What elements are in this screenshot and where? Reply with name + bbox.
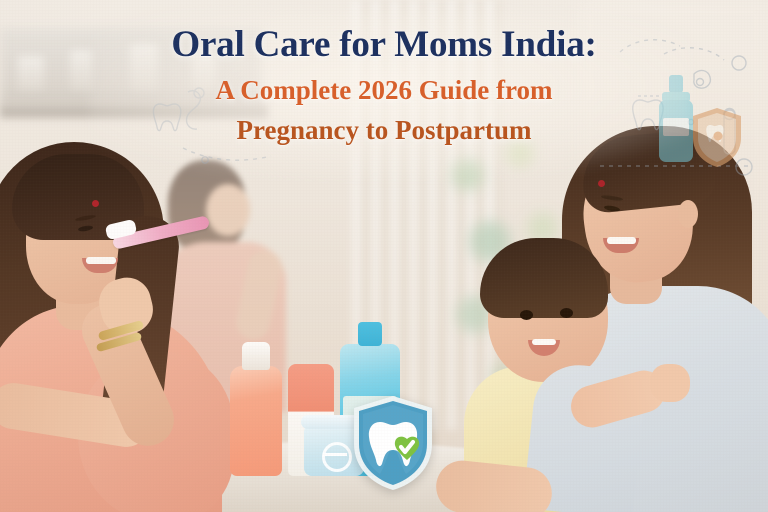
bottle-neck [358, 322, 382, 346]
mother-ear [678, 200, 698, 228]
bottle-cap [242, 342, 270, 370]
bindi [598, 180, 605, 187]
orange-lotion-bottle [230, 366, 282, 476]
title-line-1: Oral Care for Moms India: [0, 24, 768, 65]
baby-hair [480, 238, 608, 318]
baby-hand [650, 364, 690, 402]
mother-holding-baby [478, 128, 768, 512]
woman-teeth [86, 257, 116, 264]
baby-eye [560, 308, 573, 318]
title-line-2: A Complete 2026 Guide from [0, 73, 768, 108]
mother-teeth [607, 237, 636, 244]
floss-logo-icon [322, 442, 352, 472]
bindi [92, 200, 99, 207]
baby-teeth [532, 339, 556, 345]
baby-eye [520, 310, 533, 320]
pregnant-woman-brushing-teeth [0, 130, 232, 512]
hero-title-block: Oral Care for Moms India: A Complete 202… [0, 24, 768, 148]
title-line-3: Pregnancy to Postpartum [0, 113, 768, 148]
article-hero-banner: Oral Care for Moms India: A Complete 202… [0, 0, 768, 512]
dental-shield-badge [350, 394, 436, 492]
